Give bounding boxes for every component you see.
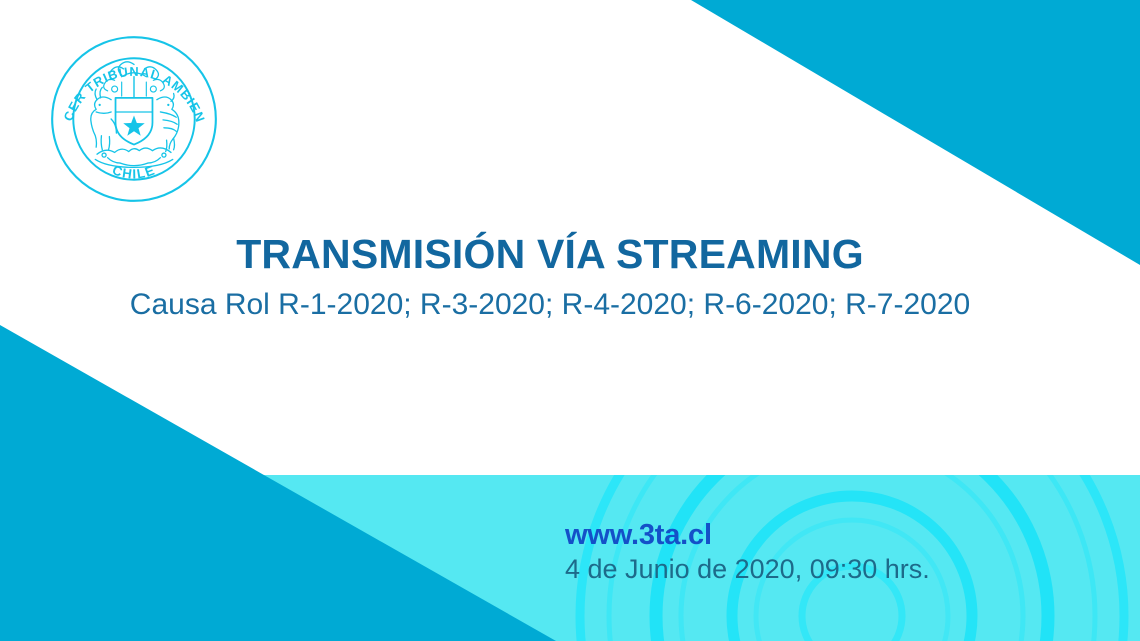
- shield-star: [123, 115, 144, 135]
- seal-arc-text-top: TERCER TRIBUNAL AMBIENTAL: [46, 31, 208, 125]
- huemul-supporter: [91, 87, 117, 149]
- base-scroll: [95, 148, 172, 167]
- condor-supporter: [157, 93, 179, 151]
- footer-block: www.3ta.cl 4 de Junio de 2020, 09:30 hrs…: [565, 521, 930, 583]
- shield: [116, 98, 153, 145]
- event-datetime: 4 de Junio de 2020, 09:30 hrs.: [565, 556, 930, 583]
- website-url-link[interactable]: www.3ta.cl: [565, 521, 930, 550]
- tribunal-seal-logo: TERCER TRIBUNAL AMBIENTAL CHILE: [46, 31, 222, 207]
- streaming-announcement-banner: TERCER TRIBUNAL AMBIENTAL CHILE: [0, 0, 1140, 641]
